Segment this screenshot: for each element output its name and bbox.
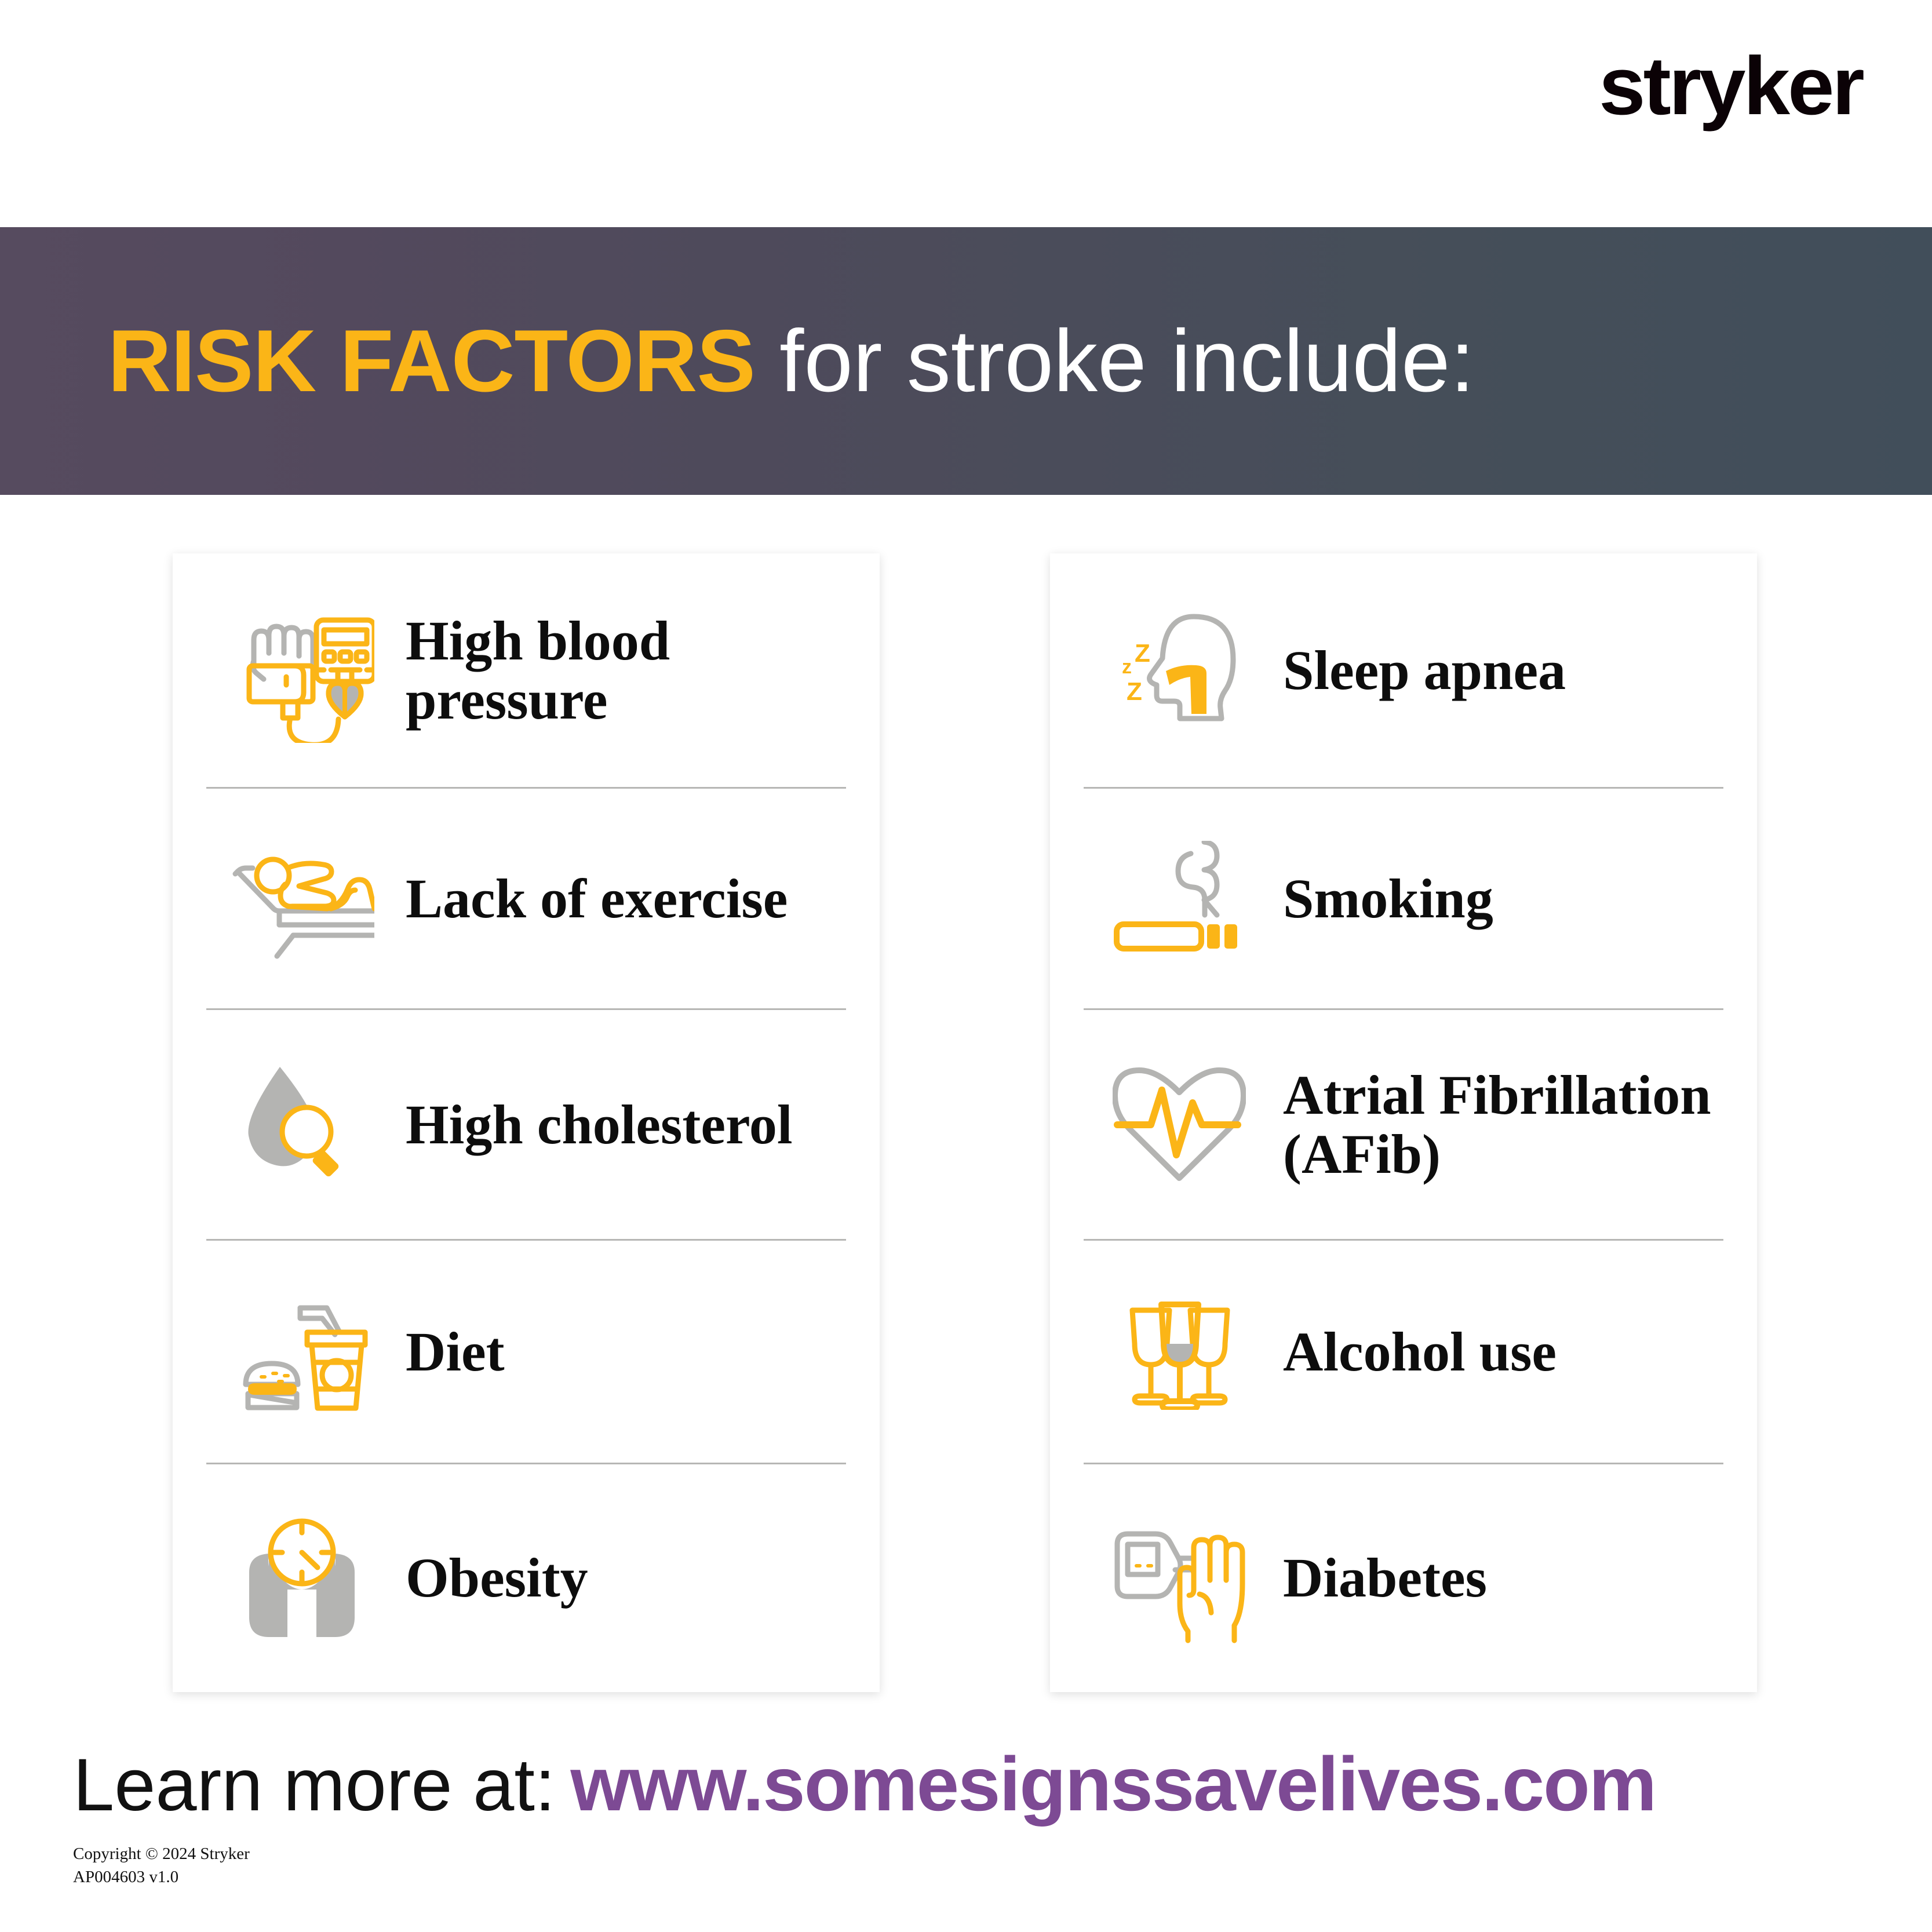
svg-text:Z: Z	[1135, 639, 1150, 668]
list-item-label: Diabetes	[1275, 1548, 1487, 1607]
page-title-accent: RISK FACTORS	[108, 312, 755, 410]
footer: Learn more at:www.somesignssavelives.com…	[0, 1736, 1932, 1932]
list-item: Alcohol use	[1084, 1241, 1723, 1464]
risk-factor-card-right: z Z Z Sleep apnea	[1050, 553, 1757, 1692]
blood-drop-magnifier-icon	[206, 1055, 398, 1194]
blood-pressure-monitor-icon	[206, 598, 398, 743]
copyright-line: Copyright © 2024 Stryker	[73, 1842, 250, 1865]
list-item-label: High cholesterol	[398, 1095, 793, 1154]
list-item: Lack of exercise	[206, 789, 846, 1010]
risk-factor-card-left: High blood pressure	[173, 553, 880, 1692]
burger-soda-icon	[206, 1289, 398, 1414]
list-item: Diet	[206, 1241, 846, 1464]
page-title: RISK FACTORS for stroke include:	[108, 317, 1475, 405]
list-item-label: Diet	[398, 1322, 505, 1381]
list-item-label: Atrial Fibrillation (AFib)	[1275, 1066, 1723, 1184]
bathroom-scale-icon	[206, 1508, 398, 1647]
glucose-meter-icon	[1084, 1508, 1275, 1647]
svg-text:z: z	[1122, 656, 1132, 678]
copyright-block: Copyright © 2024 Stryker AP004603 v1.0	[73, 1842, 250, 1889]
infographic-page: stryker RISK FACTORS for stroke include:	[0, 0, 1932, 1932]
page-title-rest: for stroke include:	[755, 312, 1475, 410]
document-code-line: AP004603 v1.0	[73, 1865, 250, 1889]
list-item-label: Lack of exercise	[398, 869, 788, 928]
list-item: Atrial Fibrillation (AFib)	[1084, 1010, 1723, 1241]
list-item: High cholesterol	[206, 1010, 846, 1241]
header-band: RISK FACTORS for stroke include:	[0, 227, 1932, 495]
list-item-label: Smoking	[1275, 869, 1493, 928]
wine-glasses-icon	[1084, 1294, 1275, 1410]
list-item-label: Sleep apnea	[1275, 641, 1566, 700]
list-item-label: Alcohol use	[1275, 1322, 1556, 1381]
list-item: Obesity	[206, 1464, 846, 1691]
stryker-logo: stryker	[1599, 45, 1862, 127]
list-item: z Z Z Sleep apnea	[1084, 553, 1723, 789]
sleeping-head-icon: z Z Z	[1084, 604, 1275, 737]
logo-bar: stryker	[0, 0, 1932, 227]
website-link[interactable]: www.somesignssavelives.com	[570, 1741, 1656, 1827]
learn-more-label: Learn more at:	[73, 1744, 555, 1827]
cigarette-icon	[1084, 841, 1275, 957]
heart-ecg-icon	[1084, 1061, 1275, 1189]
list-item-label: High blood pressure	[398, 611, 846, 730]
list-item: Smoking	[1084, 789, 1723, 1010]
list-item-label: Obesity	[398, 1548, 588, 1607]
list-item: High blood pressure	[206, 553, 846, 789]
list-item: Diabetes	[1084, 1464, 1723, 1691]
svg-text:Z: Z	[1127, 677, 1142, 706]
learn-more-line: Learn more at:www.somesignssavelives.com	[73, 1746, 1656, 1822]
person-reclining-icon	[206, 838, 398, 960]
risk-factor-columns: High blood pressure	[0, 553, 1932, 1718]
